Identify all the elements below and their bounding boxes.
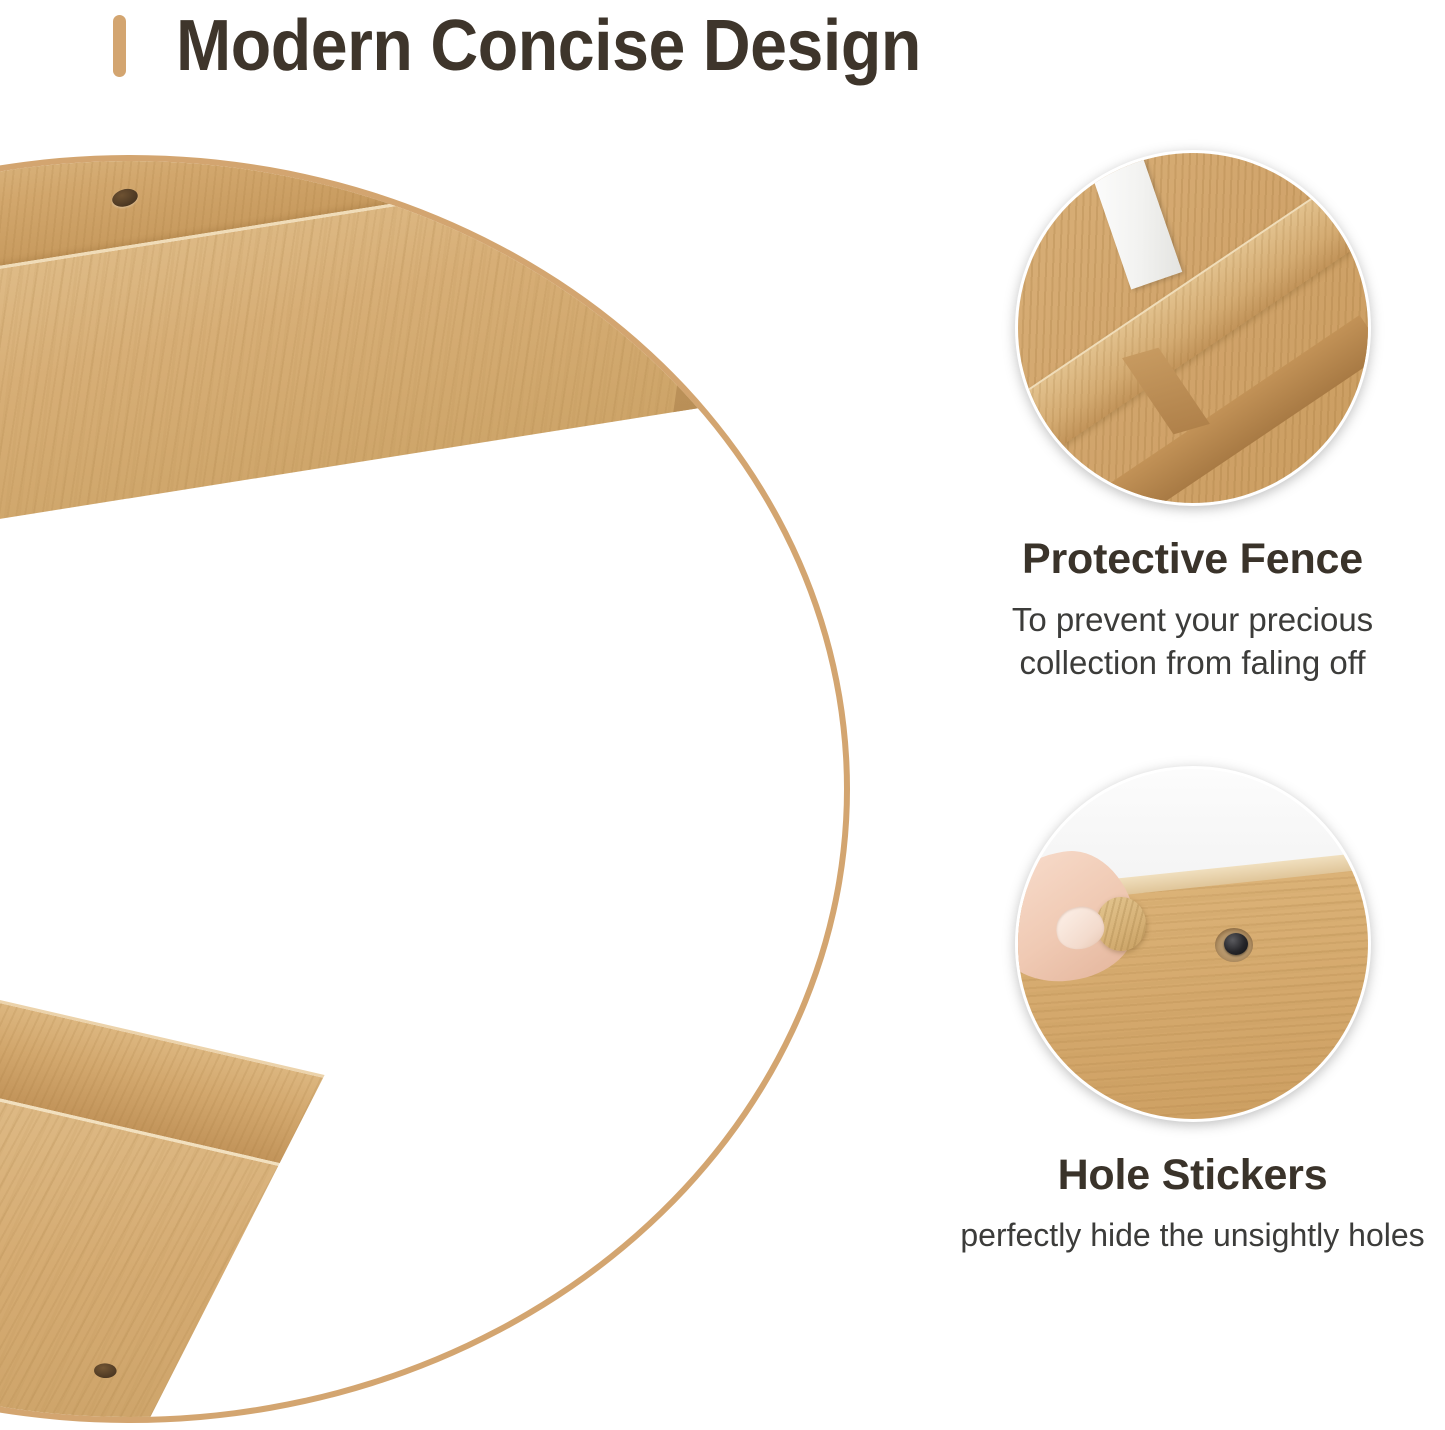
feature-description: perfectly hide the unsightly holes bbox=[940, 1215, 1445, 1256]
page-header: Modern Concise Design bbox=[0, 0, 1445, 92]
feature-title: Hole Stickers bbox=[940, 1152, 1445, 1199]
feature-column: Protective Fence To prevent your preciou… bbox=[940, 150, 1445, 1330]
feature-protective-fence: Protective Fence To prevent your preciou… bbox=[940, 150, 1445, 684]
hero-image bbox=[0, 161, 844, 1417]
upper-shelf bbox=[0, 155, 765, 549]
feature-image-protective-fence bbox=[1015, 150, 1371, 506]
feature-image-hole-stickers bbox=[1015, 766, 1371, 1122]
screw-head-icon bbox=[1224, 933, 1248, 955]
page-title: Modern Concise Design bbox=[176, 10, 921, 82]
lower-shelf bbox=[0, 931, 325, 1423]
feature-hole-stickers: Hole Stickers perfectly hide the unsight… bbox=[940, 766, 1445, 1256]
hero-product-circle bbox=[0, 155, 850, 1423]
feature-description: To prevent your precious collection from… bbox=[940, 599, 1445, 683]
feature-title: Protective Fence bbox=[940, 536, 1445, 583]
title-accent-bar bbox=[113, 15, 126, 77]
